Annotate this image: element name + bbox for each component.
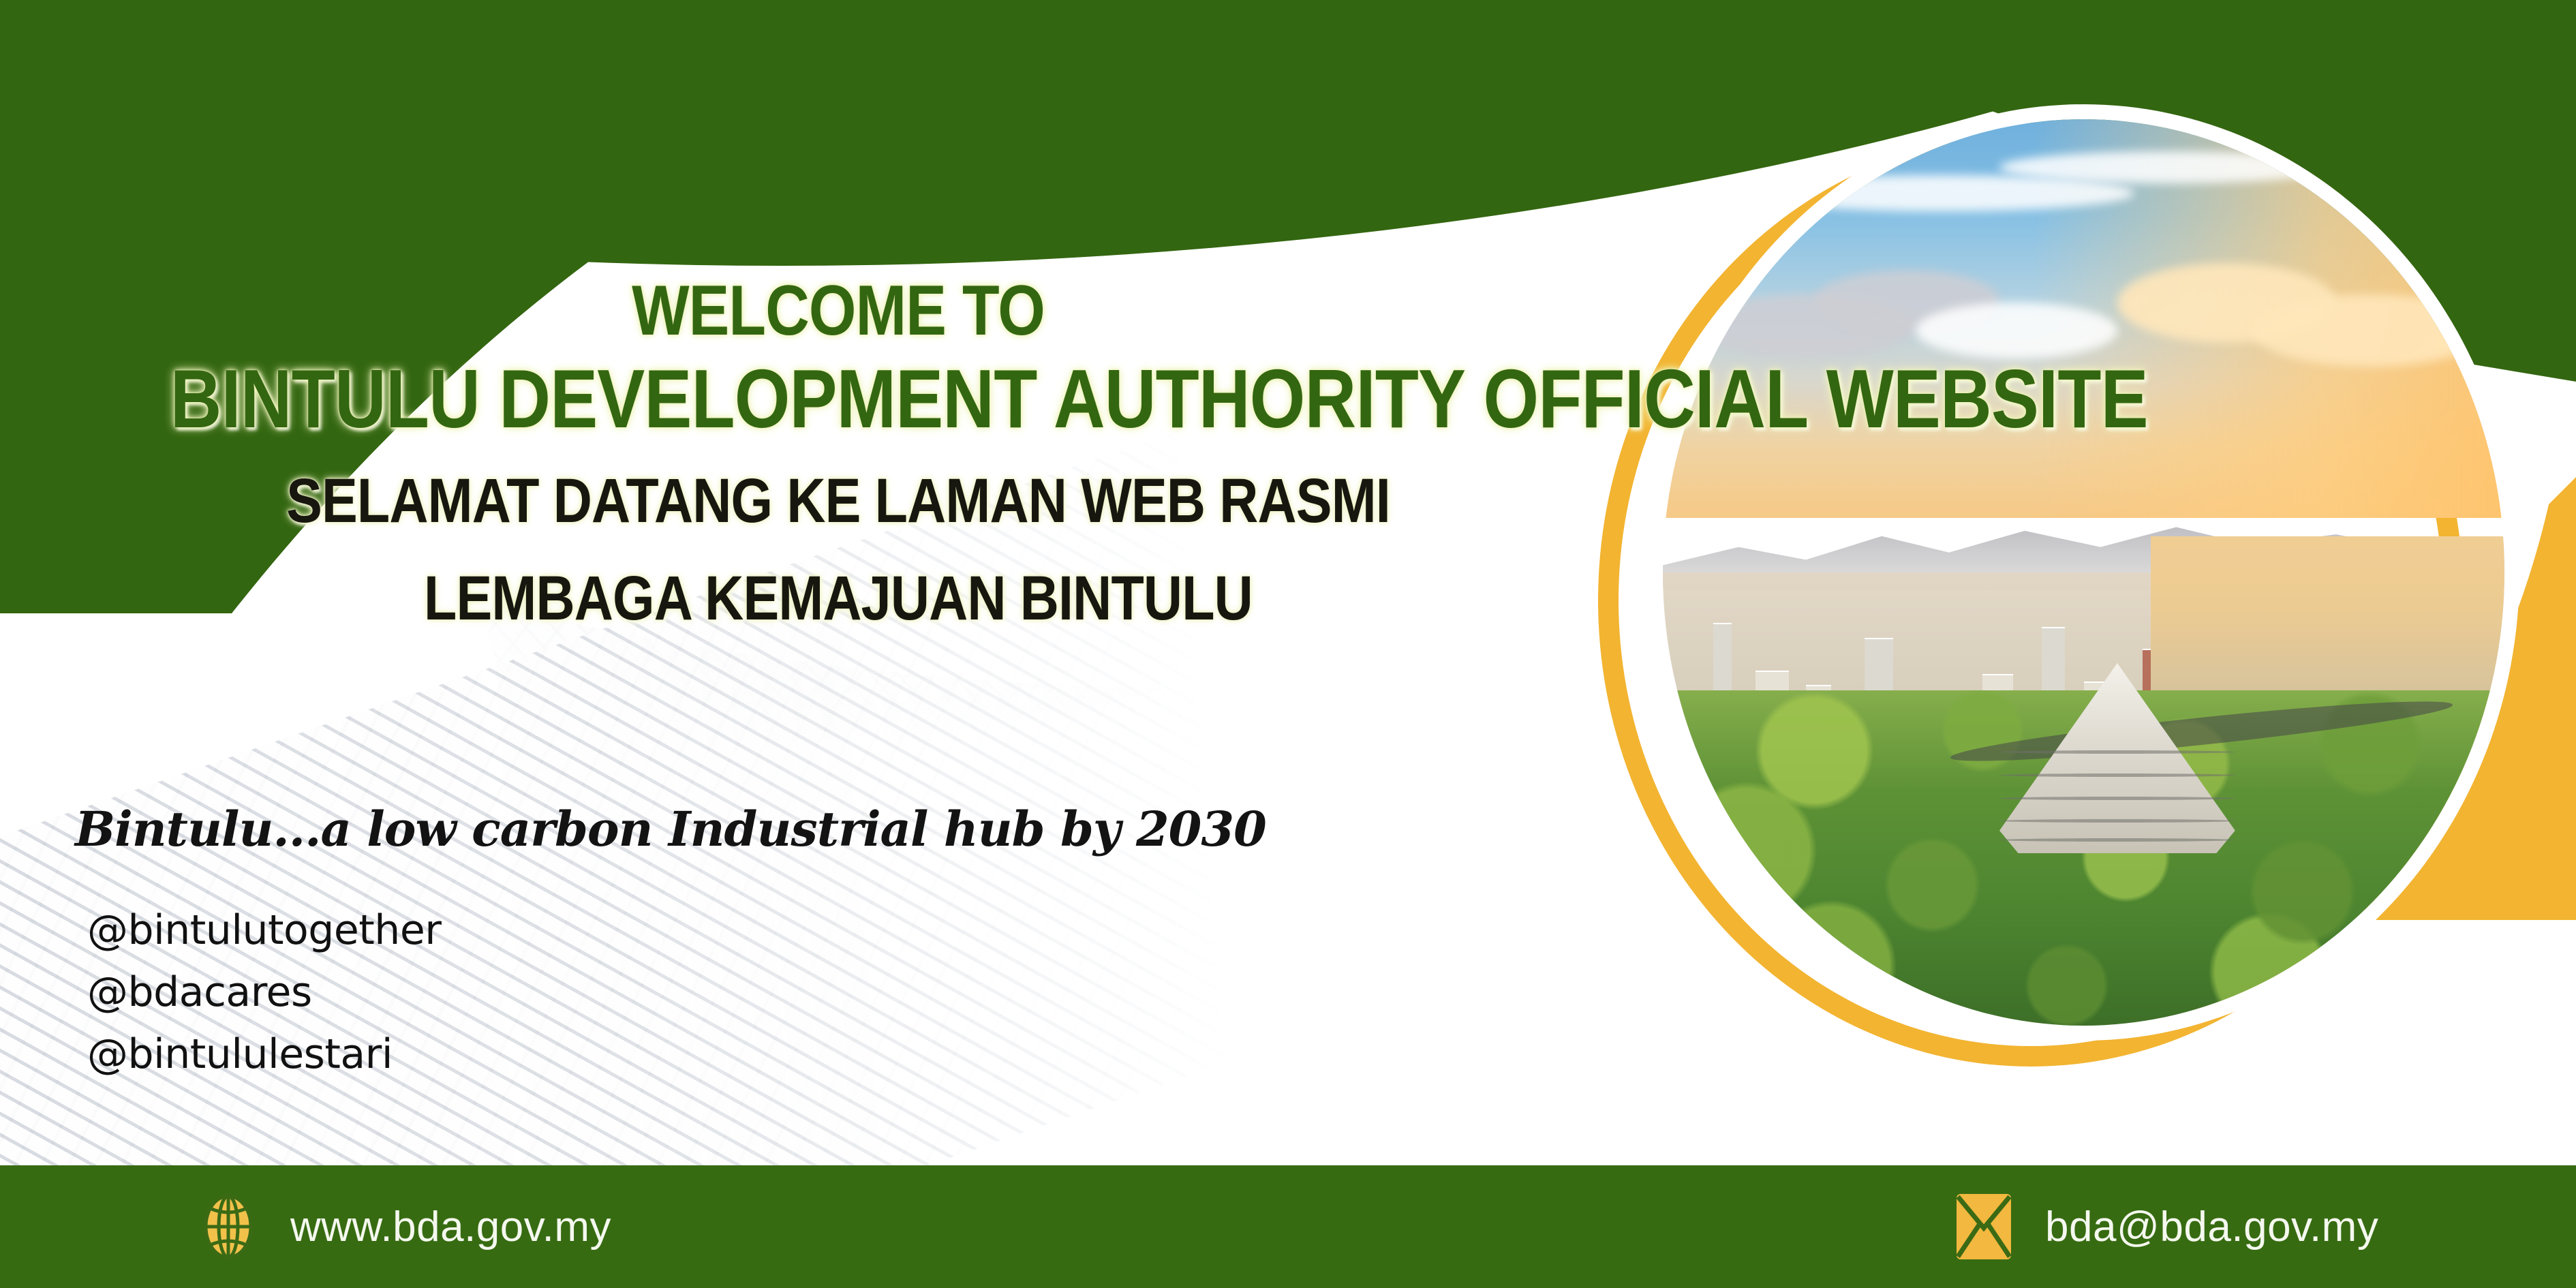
social-handle-item[interactable]: @bdacares	[87, 962, 441, 1024]
vision-tagline: Bintulu...a low carbon Industrial hub by…	[75, 801, 1266, 857]
email-label: bda@bda.gov.my	[2045, 1203, 2378, 1251]
footer-bar: www.bda.gov.my bda@bda.gov.my	[0, 1165, 2576, 1288]
email-contact[interactable]: bda@bda.gov.my	[1954, 1190, 2378, 1263]
welcome-line: WELCOME TO	[170, 273, 1507, 349]
website-contact[interactable]: www.bda.gov.my	[198, 1194, 611, 1259]
globe-icon	[198, 1194, 259, 1259]
hero-photo-area	[1598, 119, 2504, 1087]
page-title: BINTULU DEVELOPMENT AUTHORITY OFFICIAL W…	[170, 354, 1507, 444]
photo-sky	[1663, 119, 2504, 518]
social-handle-item[interactable]: @bintululestari	[87, 1024, 441, 1086]
subtitle-line-2: LEMBAGA KEMAJUAN BINTULU	[170, 565, 1507, 632]
headline-block: WELCOME TO BINTULU DEVELOPMENT AUTHORITY…	[61, 273, 1615, 633]
photo-council-negri-monument	[1999, 663, 2235, 853]
website-label: www.bda.gov.my	[290, 1203, 611, 1251]
envelope-icon	[1954, 1190, 2014, 1263]
subtitle-line-1: SELAMAT DATANG KE LAMAN WEB RASMI	[170, 467, 1507, 535]
social-handles-list: @bintulutogether @bdacares @bintululesta…	[87, 900, 441, 1086]
bintulu-aerial-photo	[1663, 119, 2504, 1026]
bda-welcome-banner: WELCOME TO BINTULU DEVELOPMENT AUTHORITY…	[0, 0, 2576, 1288]
social-handle-item[interactable]: @bintulutogether	[87, 900, 441, 962]
